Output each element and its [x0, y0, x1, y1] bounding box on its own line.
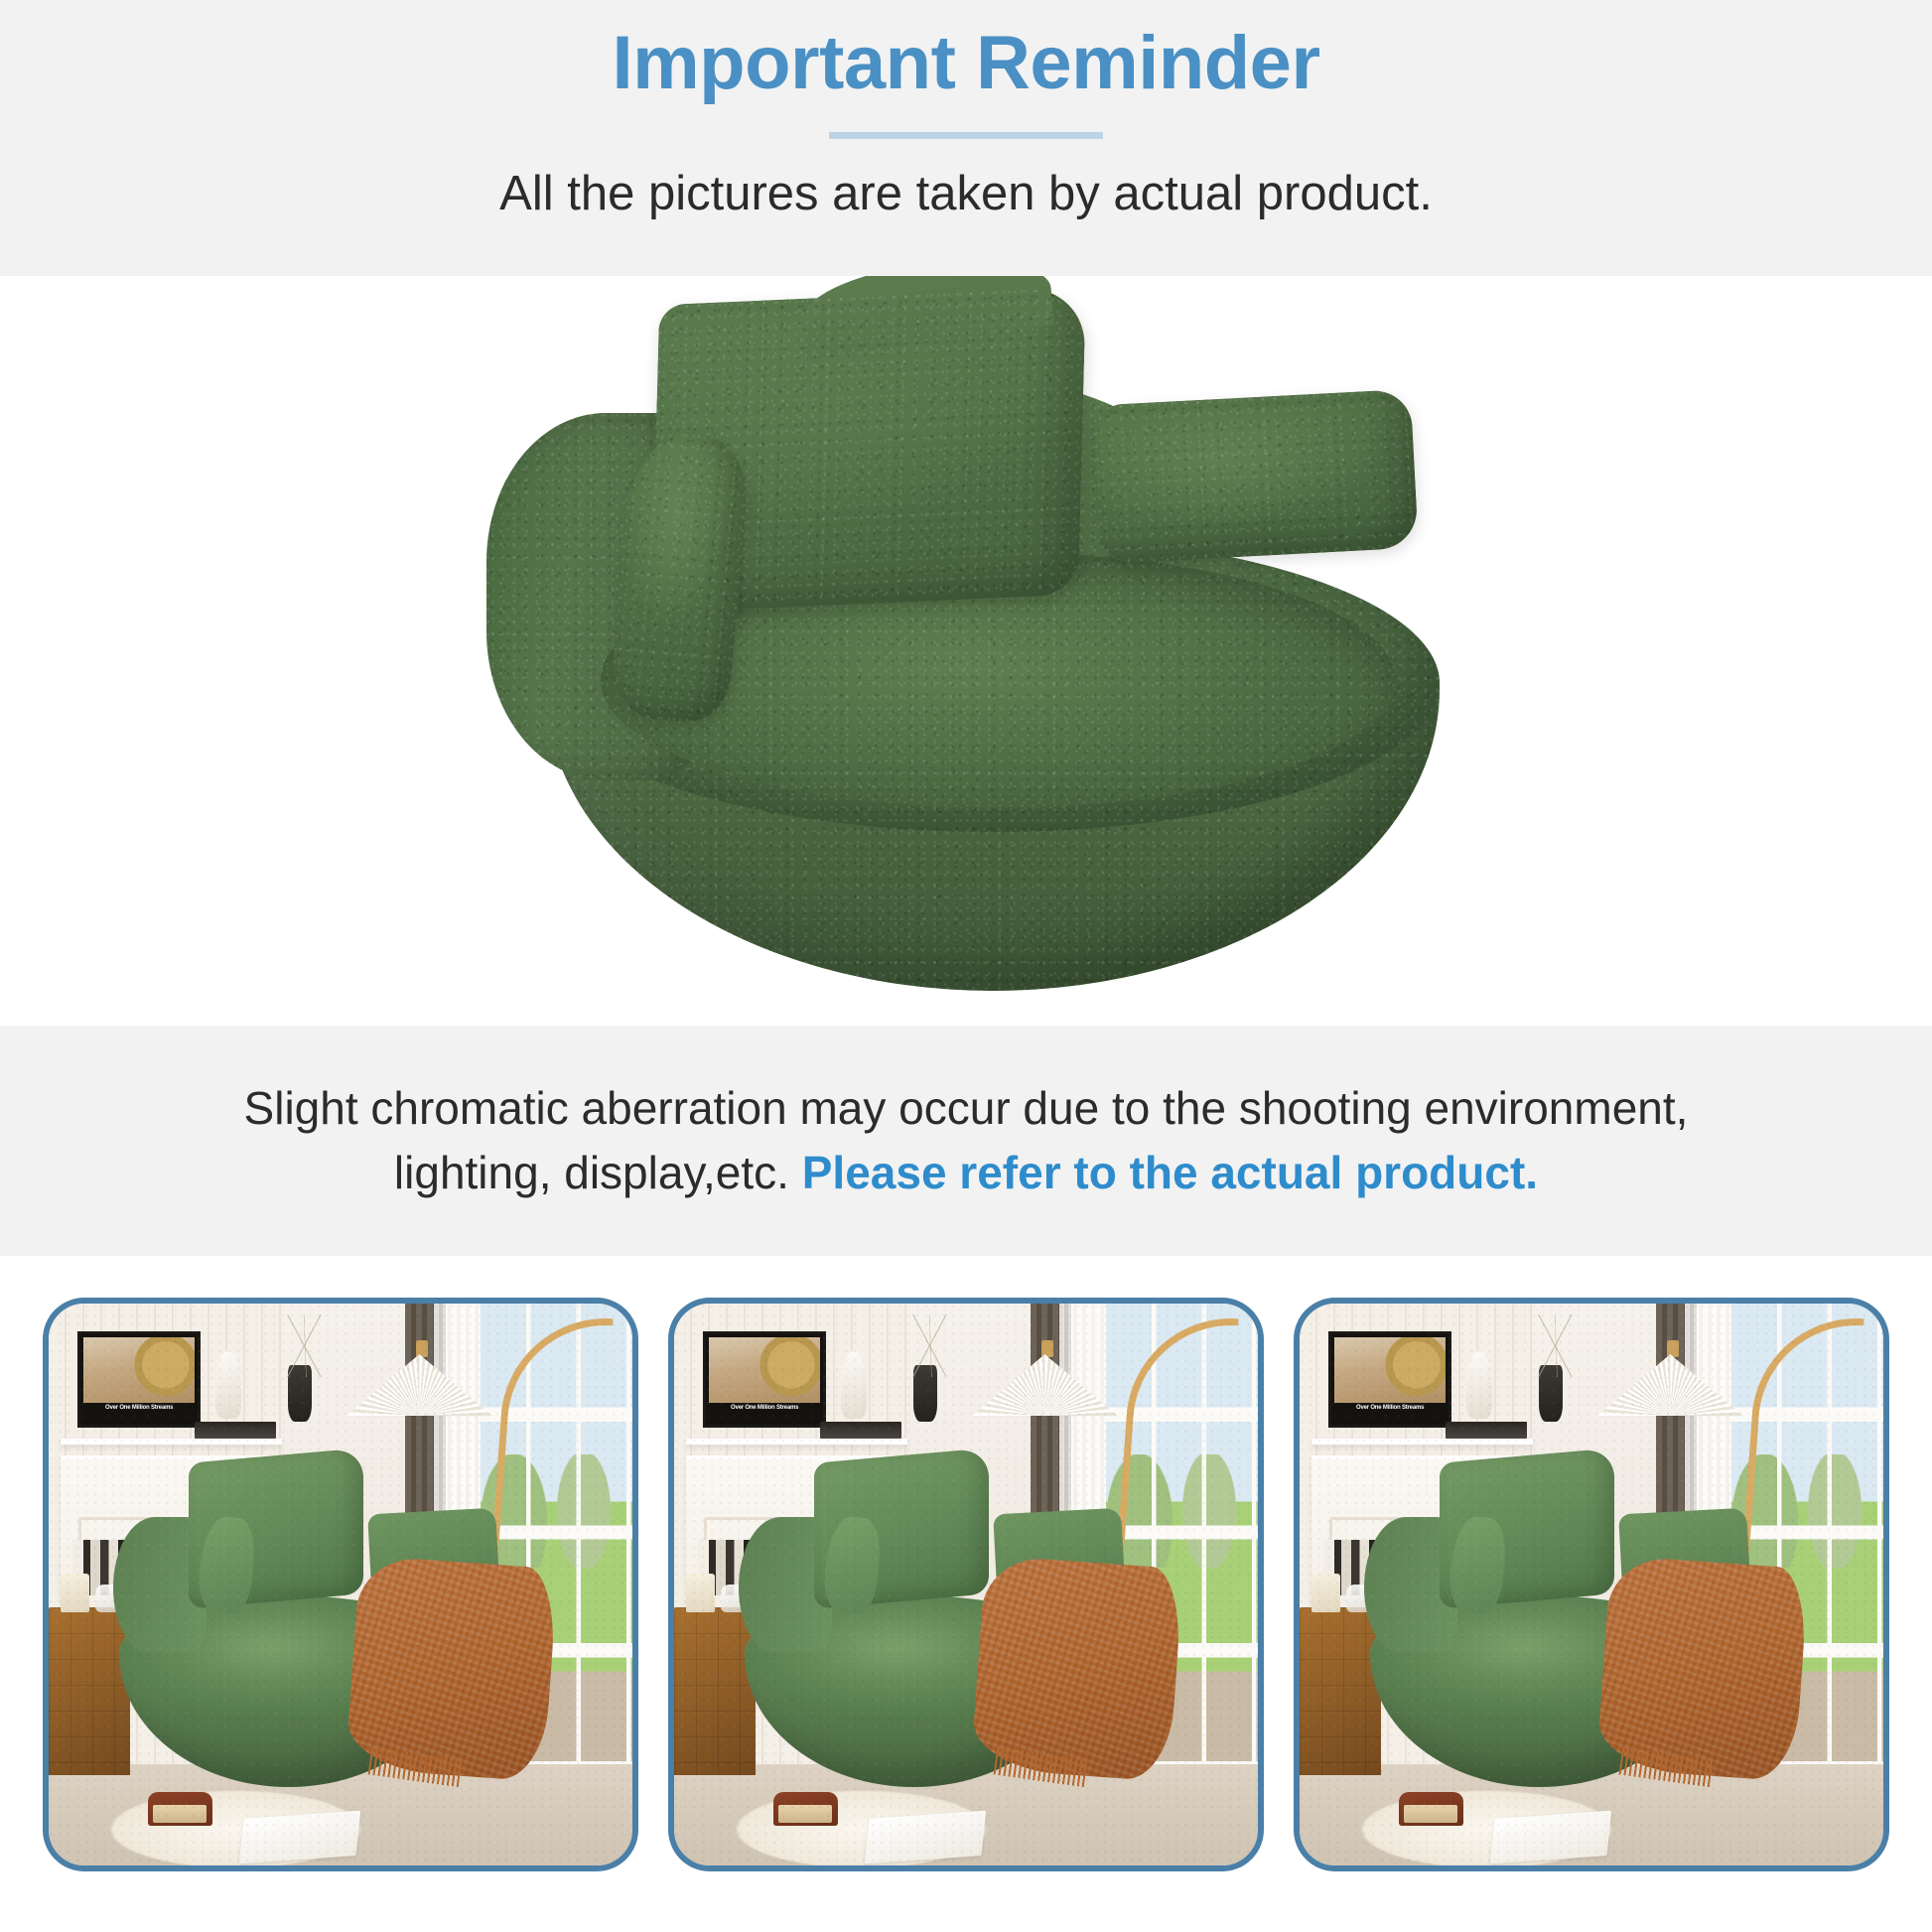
page-subtitle: All the pictures are taken by actual pro… — [499, 165, 1433, 223]
open-magazine — [1490, 1811, 1611, 1864]
chromatic-aberration-disclaimer: Slight chromatic aberration may occur du… — [0, 1026, 1932, 1256]
figurine — [841, 1351, 867, 1419]
disclaimer-line-2: lighting, display,etc. Please refer to t… — [394, 1141, 1538, 1205]
vintage-radio — [1399, 1792, 1463, 1826]
page-title: Important Reminder — [612, 16, 1319, 110]
lamp-cap — [1041, 1340, 1053, 1357]
boucle-texture — [1093, 389, 1419, 565]
lamp-cap — [416, 1340, 428, 1357]
reminder-header-band: Important Reminder All the pictures are … — [0, 0, 1932, 276]
vintage-radio — [773, 1792, 838, 1826]
candle — [686, 1574, 715, 1613]
open-magazine — [239, 1811, 360, 1864]
hero-product-image — [0, 276, 1932, 1026]
room-scene: Over One Million Streams — [674, 1304, 1258, 1865]
candle — [1311, 1574, 1340, 1613]
vintage-radio — [148, 1792, 212, 1826]
book-stack-top — [1446, 1422, 1527, 1439]
poster-artwork — [83, 1337, 194, 1403]
poster-caption: Over One Million Streams — [709, 1403, 819, 1422]
title-divider — [829, 132, 1103, 139]
book-stack-top — [195, 1422, 276, 1439]
wooden-block-side-table — [674, 1607, 756, 1776]
open-magazine — [865, 1811, 986, 1864]
book-stack-top — [820, 1422, 901, 1439]
framed-gold-record-poster: Over One Million Streams — [1328, 1331, 1450, 1427]
gallery-thumb-2[interactable]: Over One Million Streams — [668, 1298, 1264, 1871]
poster-caption: Over One Million Streams — [83, 1403, 194, 1422]
sofa-right-bolster-pillow — [1093, 389, 1419, 565]
disclaimer-line-2-plain: lighting, display,etc. — [394, 1147, 802, 1198]
figurine — [215, 1351, 241, 1419]
shelf — [686, 1439, 907, 1445]
disclaimer-line-1: Slight chromatic aberration may occur du… — [244, 1076, 1689, 1141]
room-scene: Over One Million Streams — [49, 1304, 632, 1865]
poster-artwork — [709, 1337, 819, 1403]
dried-branch — [276, 1314, 335, 1376]
framed-gold-record-poster: Over One Million Streams — [703, 1331, 825, 1427]
room-scene: Over One Million Streams — [1300, 1304, 1883, 1865]
shelf — [61, 1439, 282, 1445]
poster-artwork — [1334, 1337, 1445, 1403]
wooden-block-side-table — [49, 1607, 130, 1776]
candle — [61, 1574, 89, 1613]
sofa-illustration — [467, 286, 1469, 1021]
wooden-block-side-table — [1300, 1607, 1381, 1776]
room-scene-gallery: Over One Million Streams — [0, 1256, 1932, 1891]
bottom-spacer — [0, 1891, 1932, 1932]
framed-gold-record-poster: Over One Million Streams — [77, 1331, 200, 1427]
lamp-cap — [1667, 1340, 1679, 1357]
gallery-thumb-3[interactable]: Over One Million Streams — [1294, 1298, 1889, 1871]
figurine — [1466, 1351, 1492, 1419]
dried-branch — [901, 1314, 960, 1376]
dried-branch — [1527, 1314, 1586, 1376]
disclaimer-line-2-accent: Please refer to the actual product. — [802, 1147, 1538, 1198]
poster-caption: Over One Million Streams — [1334, 1403, 1445, 1422]
gallery-thumb-1[interactable]: Over One Million Streams — [43, 1298, 638, 1871]
shelf — [1311, 1439, 1533, 1445]
